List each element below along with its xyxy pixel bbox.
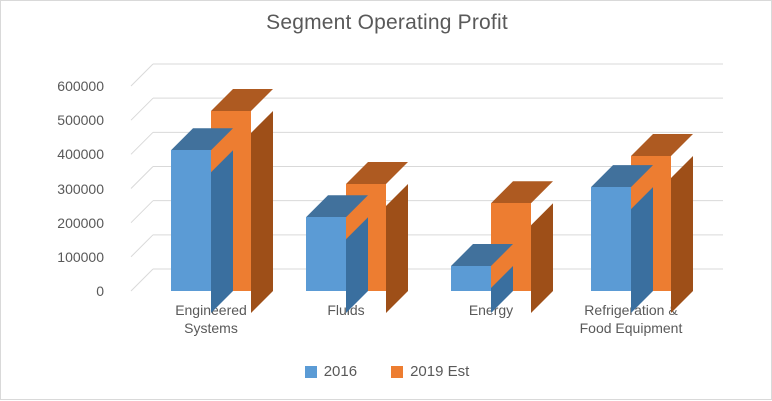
- category-label-line: Food Equipment: [546, 319, 716, 337]
- bar-2016: [591, 187, 631, 291]
- legend-label: 2019 Est: [410, 363, 469, 380]
- bar-side-face: [386, 184, 408, 313]
- bar-side-face: [211, 150, 233, 313]
- y-axis-tick-label: 0: [34, 284, 104, 298]
- bar-2016: [171, 150, 211, 291]
- bar-front-face: [591, 187, 631, 291]
- bar-front-face: [306, 217, 346, 291]
- chart-container: Segment Operating Profit 600000500000400…: [0, 0, 772, 400]
- y-axis-tick-label: 400000: [34, 147, 104, 161]
- y-axis-tick-label: 200000: [34, 216, 104, 230]
- bar-2016: [306, 217, 346, 291]
- legend-item[interactable]: 2019 Est: [391, 363, 469, 380]
- y-axis-tick-label: 600000: [34, 79, 104, 93]
- legend-item[interactable]: 2016: [305, 363, 357, 380]
- legend-swatch-icon: [305, 366, 317, 378]
- bar-side-face: [671, 156, 693, 313]
- y-axis-tick-label: 100000: [34, 250, 104, 264]
- bar-front-face: [171, 150, 211, 291]
- legend-swatch-icon: [391, 366, 403, 378]
- legend-label: 2016: [324, 363, 357, 380]
- y-axis-tick-label: 500000: [34, 113, 104, 127]
- bar-front-face: [451, 266, 491, 291]
- bar-2016: [451, 266, 491, 291]
- category-label-line: Systems: [126, 319, 296, 337]
- bar-side-face: [631, 187, 653, 313]
- bar-side-face: [251, 111, 273, 313]
- chart-legend: 20162019 Est: [1, 363, 772, 380]
- y-axis-tick-label: 300000: [34, 182, 104, 196]
